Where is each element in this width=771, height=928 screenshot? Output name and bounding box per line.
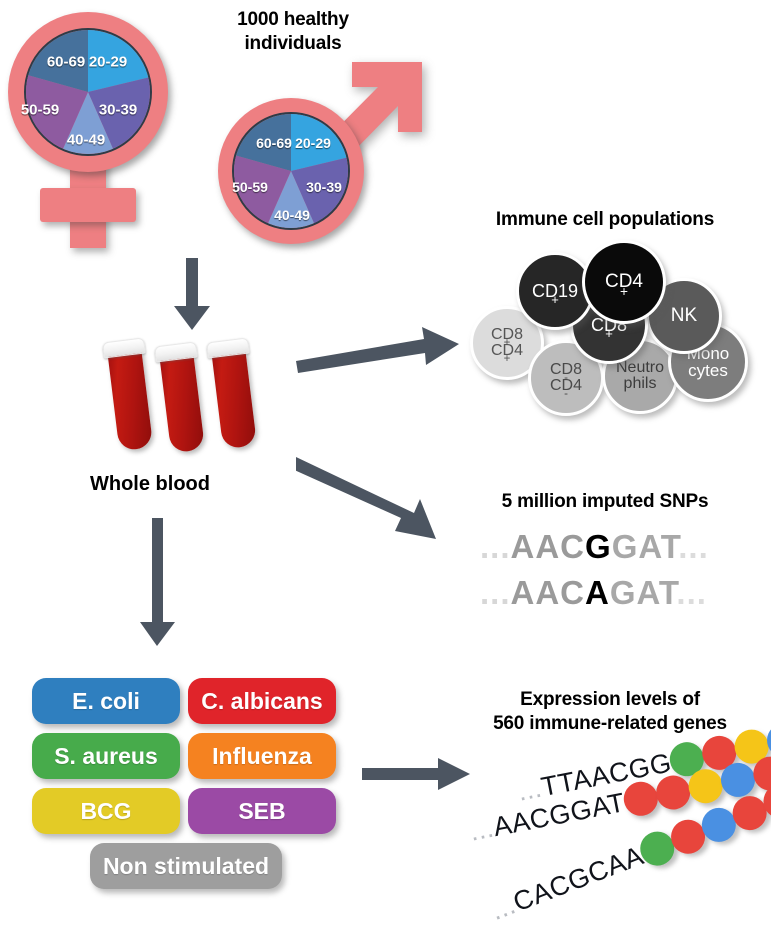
pie-label-40-49: 40-49 (67, 132, 105, 149)
blood-tube (158, 342, 205, 453)
expression-title: Expression levels of 560 immune-related … (455, 688, 765, 736)
stim-box-s-aureus[interactable]: S. aureus (32, 733, 180, 779)
cell-cd4pos: CD4+ (582, 240, 666, 324)
expression-title-line2: 560 immune-related genes (455, 712, 765, 736)
blood-tube (210, 338, 257, 449)
strand-bases: CACGCAA (509, 840, 648, 917)
snp-ellipsis-left: ... (480, 528, 511, 565)
cell-label-line1: Neutro (616, 360, 664, 376)
pie-label-30-39: 30-39 (306, 179, 342, 195)
pie-label-30-39: 30-39 (99, 102, 137, 119)
tube-blood-fill (211, 348, 257, 449)
blood-tube (106, 338, 153, 451)
cell-label-line2: CD4+ (491, 343, 523, 359)
female-stem-horizontal (40, 188, 136, 222)
cohort-title-line1: 1000 healthy (178, 8, 408, 32)
cell-label-line2: cytes (688, 362, 728, 379)
arrow-stimulation-to-expression (362, 758, 472, 792)
tube-blood-fill (107, 348, 153, 451)
snp-sequences: ...AACGGAT... ...AACAGAT... (480, 528, 760, 620)
snp-variant-allele: A (585, 574, 610, 611)
stimulation-panel: E. coli C. albicans S. aureus Influenza … (32, 678, 342, 898)
snp-variant-allele: G (585, 528, 612, 565)
immune-cell-cluster: CD8+ CD4+ CD8- CD4- Neutro phils Mono cy… (460, 240, 760, 420)
snp-ellipsis-right: ... (676, 574, 707, 611)
snp-flank-left: AAC (511, 528, 586, 565)
whole-blood-label: Whole blood (90, 473, 210, 496)
gene-strands: ...TTAACGG ...AACGGAT ...CACGCAA (470, 745, 770, 915)
snp-sequence-row: ...AACAGAT... (480, 574, 707, 612)
female-gender-symbol: 20-29 30-39 40-49 50-59 60-69 (8, 12, 188, 252)
pie-label-40-49: 40-49 (274, 207, 310, 223)
snp-ellipsis-right: ... (678, 528, 709, 565)
snp-flank-right: GAT (610, 574, 677, 611)
cell-label: CD19+ (532, 282, 578, 300)
pie-label-60-69: 60-69 (47, 54, 85, 71)
arrow-blood-to-immune (296, 325, 461, 375)
male-gender-symbol: 20-29 30-39 40-49 50-59 60-69 (202, 40, 442, 240)
tube-blood-fill (159, 352, 205, 453)
stim-box-c-albicans[interactable]: C. albicans (188, 678, 336, 724)
gene-strand-sequence: ...CACGCAA (486, 840, 647, 927)
pie-label-20-29: 20-29 (295, 135, 331, 151)
pie-label-60-69: 60-69 (256, 135, 292, 151)
cell-label-line2: CD4- (550, 378, 582, 394)
stim-box-influenza[interactable]: Influenza (188, 733, 336, 779)
snp-sequence-row: ...AACGGAT... (480, 528, 709, 566)
stim-box-bcg[interactable]: BCG (32, 788, 180, 834)
bead (653, 773, 693, 813)
stim-box-non-stimulated[interactable]: Non stimulated (90, 843, 282, 889)
cell-label-line1: CD8- (550, 362, 582, 378)
arrow-cohort-to-blood (172, 258, 212, 332)
immune-cell-title: Immune cell populations (450, 208, 760, 232)
cell-label-line2: phils (624, 376, 657, 392)
arrow-blood-to-snp (296, 455, 456, 545)
bead (685, 766, 725, 806)
snp-title: 5 million imputed SNPs (450, 490, 760, 514)
pie-label-50-59: 50-59 (21, 102, 59, 119)
pie-label-50-59: 50-59 (232, 179, 268, 195)
stim-box-e-coli[interactable]: E. coli (32, 678, 180, 724)
cell-label-line1: CD8+ (491, 327, 523, 343)
figure-canvas: 1000 healthy individuals 20-29 30-39 40-… (0, 0, 771, 922)
expression-title-line1: Expression levels of (455, 688, 765, 712)
whole-blood-tubes (100, 340, 290, 460)
cell-label: NK (671, 306, 697, 325)
snp-flank-left: AAC (511, 574, 586, 611)
arrow-blood-to-stimulation (138, 518, 178, 648)
snp-ellipsis-left: ... (480, 574, 511, 611)
pie-label-20-29: 20-29 (89, 54, 127, 71)
snp-flank-right: GAT (612, 528, 679, 565)
stim-box-seb[interactable]: SEB (188, 788, 336, 834)
cell-label: CD4+ (605, 272, 643, 291)
